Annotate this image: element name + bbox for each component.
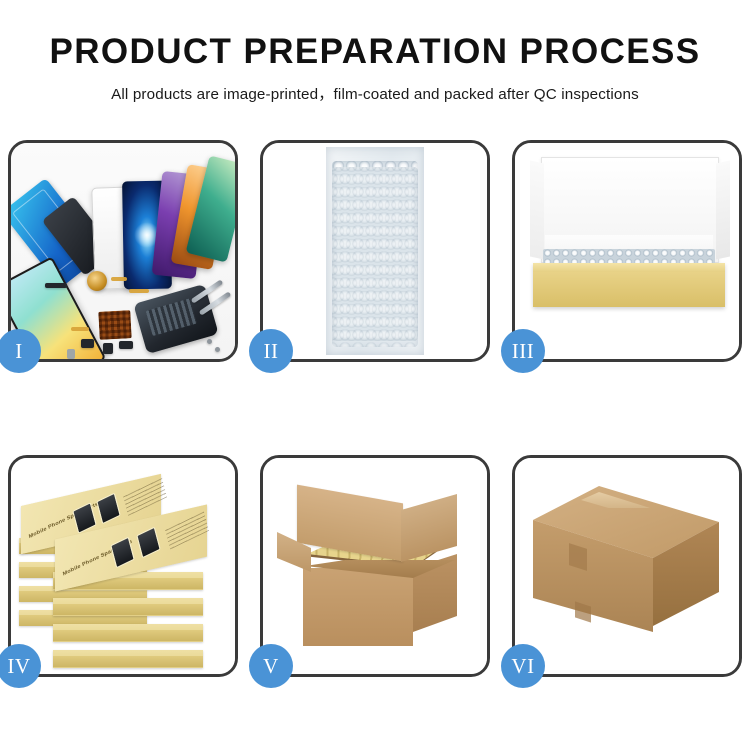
step-badge-5: V: [249, 644, 293, 688]
chip-icon: [103, 343, 113, 354]
step-image-bubble-wrap: [263, 143, 487, 359]
carton-right-flap: [401, 494, 457, 562]
small-part-icon: [67, 349, 75, 359]
flex-cable-icon: [71, 327, 89, 331]
sealed-carton-icon: [533, 486, 719, 652]
retail-box: [53, 598, 203, 616]
step-badge-2: II: [249, 329, 293, 373]
step-image-carton-filling: [263, 458, 487, 674]
step-panel-products-and-spare-parts: I: [8, 140, 238, 362]
header: PRODUCT PREPARATION PROCESS All products…: [0, 0, 750, 104]
carton-back-flap: [297, 485, 403, 562]
open-carton-icon: [283, 498, 455, 650]
step-image-retail-box-stack: Mobile Phone Spare Parts Mobile Phone Sp…: [11, 458, 235, 674]
carton-front-face: [303, 568, 413, 646]
process-step-grid: I II III: [8, 140, 742, 677]
flex-cable-icon: [111, 277, 127, 281]
yellow-box-tray-icon: [533, 263, 725, 307]
step-image-sealed-carton: [515, 458, 739, 674]
perforated-component-icon: [98, 310, 131, 340]
step-panel-sealed-carton: VI: [512, 455, 742, 677]
screw-icon: [215, 347, 220, 352]
flex-cable-icon: [129, 289, 149, 293]
step-panel-carton-filling: V: [260, 455, 490, 677]
chip-icon: [81, 339, 94, 348]
screw-icon: [207, 339, 212, 344]
step-panel-bubble-wrap: II: [260, 140, 490, 362]
step-badge-6: VI: [501, 644, 545, 688]
chip-icon: [45, 283, 67, 288]
retail-box: [53, 624, 203, 642]
step-image-products-and-spare-parts: [11, 143, 235, 359]
step-badge-3: III: [501, 329, 545, 373]
step-panel-retail-box-stack: Mobile Phone Spare Parts Mobile Phone Sp…: [8, 455, 238, 677]
bubble-wrap-layer-icon: [332, 167, 418, 347]
step-badge-1: I: [0, 329, 41, 373]
page-subtitle: All products are image-printed，film-coat…: [0, 82, 750, 104]
retail-box-stack-icon: Mobile Phone Spare Parts Mobile Phone Sp…: [17, 476, 235, 666]
chip-icon: [119, 341, 133, 349]
page-title: PRODUCT PREPARATION PROCESS: [0, 34, 750, 69]
copper-coil-icon: [87, 271, 107, 291]
retail-box: [53, 650, 203, 668]
step-panel-inner-box-packing: III: [512, 140, 742, 362]
product-preparation-infographic: PRODUCT PREPARATION PROCESS All products…: [0, 0, 750, 750]
step-image-inner-box-packing: [515, 143, 739, 359]
step-badge-4: IV: [0, 644, 41, 688]
